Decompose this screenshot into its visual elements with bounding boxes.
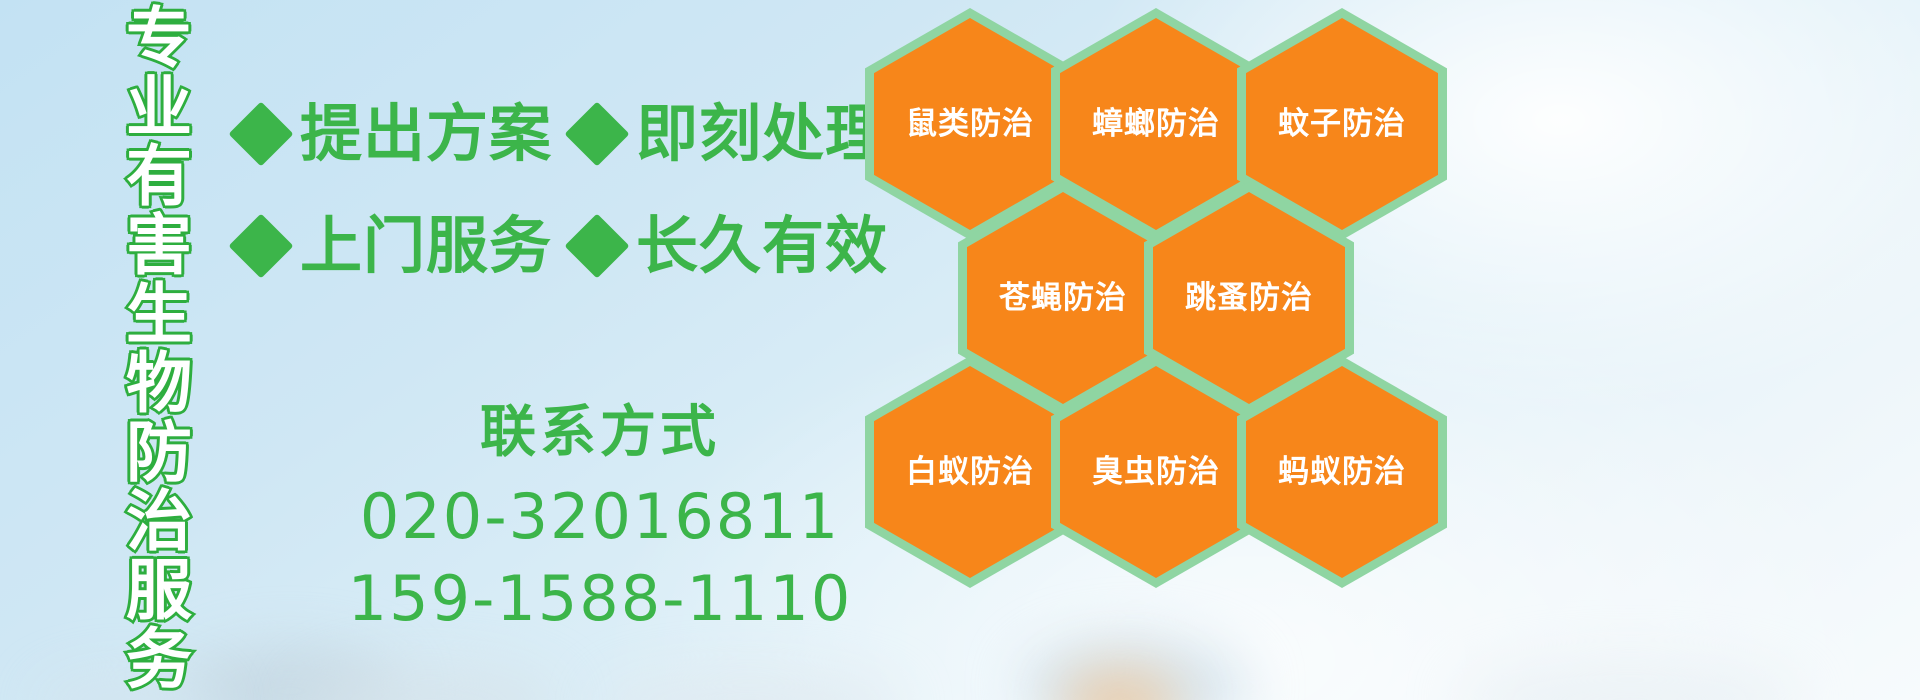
feature-row: 提出方案 即刻处理 — [238, 78, 878, 190]
service-hex-label: 臭虫防治 — [1092, 455, 1220, 489]
vertical-headline-char: 专 — [126, 6, 192, 72]
service-hex-inner: 白蚁防治 — [874, 366, 1066, 578]
contact-block: 联系方式 020-32016811 159-1588-1110 — [300, 400, 900, 640]
diamond-icon — [564, 213, 629, 278]
feature-label: 提出方案 — [300, 103, 552, 165]
phone-number-landline[interactable]: 020-32016811 — [300, 476, 900, 558]
pest-control-banner: 专 业 有 害 生 物 防 治 服 务 提出方案 即刻处理 上门服务 长久有效 … — [0, 0, 1920, 700]
background-blur-blob — [1460, 660, 1800, 700]
service-hex-label: 鼠类防治 — [906, 107, 1034, 141]
feature-label: 上门服务 — [300, 215, 552, 277]
diamond-icon — [228, 213, 293, 278]
contact-heading: 联系方式 — [300, 400, 900, 466]
diamond-icon — [228, 101, 293, 166]
service-honeycomb: 鼠类防治 蟑螂防治 蚊子防治 苍蝇防治 跳蚤防治 白蚁防治 — [855, 0, 1475, 700]
feature-label: 即刻处理 — [636, 103, 888, 165]
service-hex-label: 蚊子防治 — [1278, 107, 1406, 141]
service-hex-inner: 蚂蚁防治 — [1246, 366, 1438, 578]
vertical-headline-char: 物 — [126, 351, 192, 417]
service-hex-inner: 臭虫防治 — [1060, 366, 1252, 578]
vertical-headline-char: 防 — [126, 420, 192, 486]
service-hex-label: 苍蝇防治 — [999, 281, 1127, 315]
feature-label: 长久有效 — [636, 215, 888, 277]
service-hex-label: 白蚁防治 — [906, 455, 1034, 489]
phone-number-mobile[interactable]: 159-1588-1110 — [300, 558, 900, 640]
vertical-headline-char: 务 — [126, 627, 192, 693]
vertical-headline: 专 业 有 害 生 物 防 治 服 务 — [104, 6, 214, 696]
vertical-headline-char: 服 — [126, 558, 192, 624]
service-hex-label: 蚂蚁防治 — [1278, 455, 1406, 489]
service-hex-label: 跳蚤防治 — [1185, 281, 1313, 315]
feature-list: 提出方案 即刻处理 上门服务 长久有效 — [238, 78, 878, 302]
service-hex-label: 蟑螂防治 — [1092, 107, 1220, 141]
feature-row: 上门服务 长久有效 — [238, 190, 878, 302]
vertical-headline-char: 治 — [126, 489, 192, 555]
vertical-headline-char: 生 — [126, 282, 192, 348]
background-blur-blob — [300, 664, 560, 700]
vertical-headline-char: 有 — [126, 144, 192, 210]
vertical-headline-char: 害 — [126, 213, 192, 279]
vertical-headline-char: 业 — [126, 75, 192, 141]
diamond-icon — [564, 101, 629, 166]
